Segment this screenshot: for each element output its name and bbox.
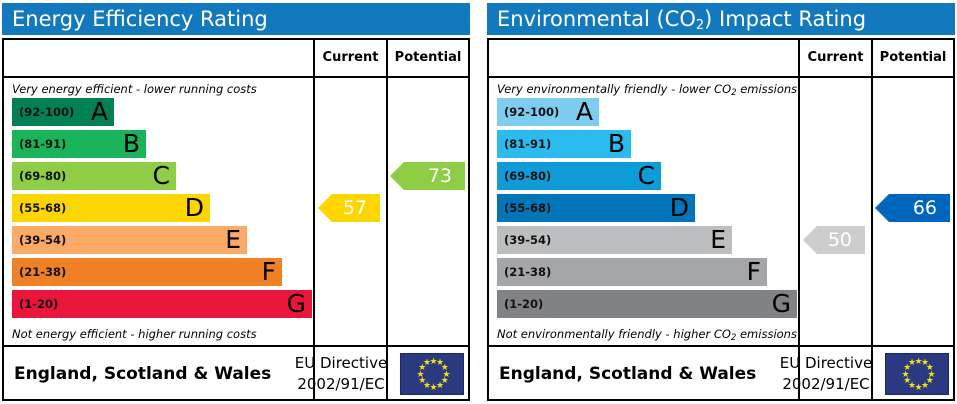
header-bottom-rule (4, 76, 468, 78)
footer-directive-line2: 2002/91/EC (286, 374, 396, 395)
band-f: (21-38) F (12, 258, 282, 286)
current-rating-arrow-energy: 57 (318, 194, 380, 222)
band-f-letter: F (747, 258, 761, 286)
band-e: (39-54) E (12, 226, 247, 254)
band-c-letter: C (638, 162, 655, 190)
caption-top-text: Very energy efficient - lower running co… (12, 82, 257, 96)
column-header-potential: Potential (388, 40, 468, 76)
band-a: (92-100) A (12, 98, 114, 126)
footer-energy: England, Scotland & Wales EU Directive 2… (4, 347, 468, 401)
band-f-letter: F (262, 258, 276, 286)
caption-top-energy: Very energy efficient - lower running co… (12, 80, 310, 98)
band-a-letter: A (91, 98, 108, 126)
environmental-impact-rating-chart: Environmental (CO2) Impact Rating Curren… (485, 0, 957, 404)
band-g-range: (1-20) (19, 290, 58, 318)
footer-region-label: England, Scotland & Wales (499, 347, 756, 401)
band-c-range: (69-80) (504, 162, 551, 190)
chart-title-text: Environmental (CO (497, 7, 696, 31)
band-b-range: (81-91) (19, 130, 66, 158)
band-g-letter: G (772, 290, 791, 318)
co2-subscript: 2 (696, 18, 704, 33)
band-g-letter: G (287, 290, 306, 318)
band-g-range: (1-20) (504, 290, 543, 318)
chart-title-energy: Energy Efficiency Rating (2, 3, 470, 35)
band-e-range: (39-54) (19, 226, 66, 254)
column-header-current: Current (800, 40, 871, 76)
energy-efficiency-rating-chart: Energy Efficiency Rating Current Potenti… (0, 0, 472, 404)
band-d: (55-68) D (12, 194, 210, 222)
co2-subscript: 2 (731, 88, 736, 98)
caption-top-environmental: Very environmentally friendly - lower CO… (497, 80, 795, 98)
band-b-range: (81-91) (504, 130, 551, 158)
eu-flag-icon: ★★★★★★★★★★★★ (885, 353, 949, 395)
band-e-letter: E (710, 226, 726, 254)
band-d-letter: D (670, 194, 689, 222)
chart-title-suffix: ) Impact Rating (704, 7, 866, 31)
co2-subscript: 2 (731, 333, 736, 343)
band-a-range: (92-100) (19, 98, 74, 126)
header-bottom-rule (489, 76, 953, 78)
footer-directive-line2: 2002/91/EC (771, 374, 881, 395)
band-d: (55-68) D (497, 194, 695, 222)
epc-table-energy: Current Potential Very energy efficient … (2, 38, 470, 401)
band-e-letter: E (225, 226, 241, 254)
band-c-range: (69-80) (19, 162, 66, 190)
footer-directive: EU Directive 2002/91/EC (286, 353, 396, 395)
column-header-current: Current (315, 40, 386, 76)
band-e-range: (39-54) (504, 226, 551, 254)
caption-top-text: Very environmentally friendly - lower CO (497, 82, 731, 96)
band-b: (81-91) B (12, 130, 146, 158)
band-c: (69-80) C (12, 162, 176, 190)
band-b: (81-91) B (497, 130, 631, 158)
footer-directive: EU Directive 2002/91/EC (771, 353, 881, 395)
band-c-letter: C (153, 162, 170, 190)
caption-bottom-energy: Not energy efficient - higher running co… (12, 325, 310, 343)
eu-star-icon: ★ (423, 360, 430, 367)
footer-directive-line1: EU Directive (771, 353, 881, 374)
band-bars-energy: (92-100) A (81-91) B (69-80) C (55-68) D… (12, 98, 312, 324)
caption-bottom-suffix: emissions (736, 327, 797, 341)
chart-title-text: Energy Efficiency Rating (12, 7, 268, 31)
band-f-range: (21-38) (504, 258, 551, 286)
band-g: (1-20) G (12, 290, 312, 318)
footer-environmental: England, Scotland & Wales EU Directive 2… (489, 347, 953, 401)
caption-bottom-environmental: Not environmentally friendly - higher CO… (497, 325, 795, 343)
footer-directive-line1: EU Directive (286, 353, 396, 374)
band-a: (92-100) A (497, 98, 599, 126)
band-g: (1-20) G (497, 290, 797, 318)
band-bars-environmental: (92-100) A (81-91) B (69-80) C (55-68) D… (497, 98, 797, 324)
epc-table-environmental: Current Potential Very environmentally f… (487, 38, 955, 401)
potential-rating-arrow-environmental: 66 (875, 194, 950, 222)
band-d-letter: D (185, 194, 204, 222)
band-f: (21-38) F (497, 258, 767, 286)
caption-bottom-text: Not environmentally friendly - higher CO (497, 327, 731, 341)
band-b-letter: B (608, 130, 625, 158)
band-f-range: (21-38) (19, 258, 66, 286)
band-e: (39-54) E (497, 226, 732, 254)
band-b-letter: B (123, 130, 140, 158)
eu-star-icon: ★ (908, 360, 915, 367)
band-a-range: (92-100) (504, 98, 559, 126)
caption-bottom-text: Not energy efficient - higher running co… (12, 327, 257, 341)
current-rating-arrow-environmental: 50 (803, 226, 865, 254)
chart-title-environmental: Environmental (CO2) Impact Rating (487, 3, 955, 35)
column-header-potential: Potential (873, 40, 953, 76)
potential-rating-arrow-energy: 73 (390, 162, 465, 190)
band-c: (69-80) C (497, 162, 661, 190)
band-d-range: (55-68) (504, 194, 551, 222)
epc-charts-page: Energy Efficiency Rating Current Potenti… (0, 0, 957, 404)
band-d-range: (55-68) (19, 194, 66, 222)
footer-region-label: England, Scotland & Wales (14, 347, 271, 401)
caption-top-suffix: emissions (737, 82, 798, 96)
band-a-letter: A (576, 98, 593, 126)
eu-flag-icon: ★★★★★★★★★★★★ (400, 353, 464, 395)
